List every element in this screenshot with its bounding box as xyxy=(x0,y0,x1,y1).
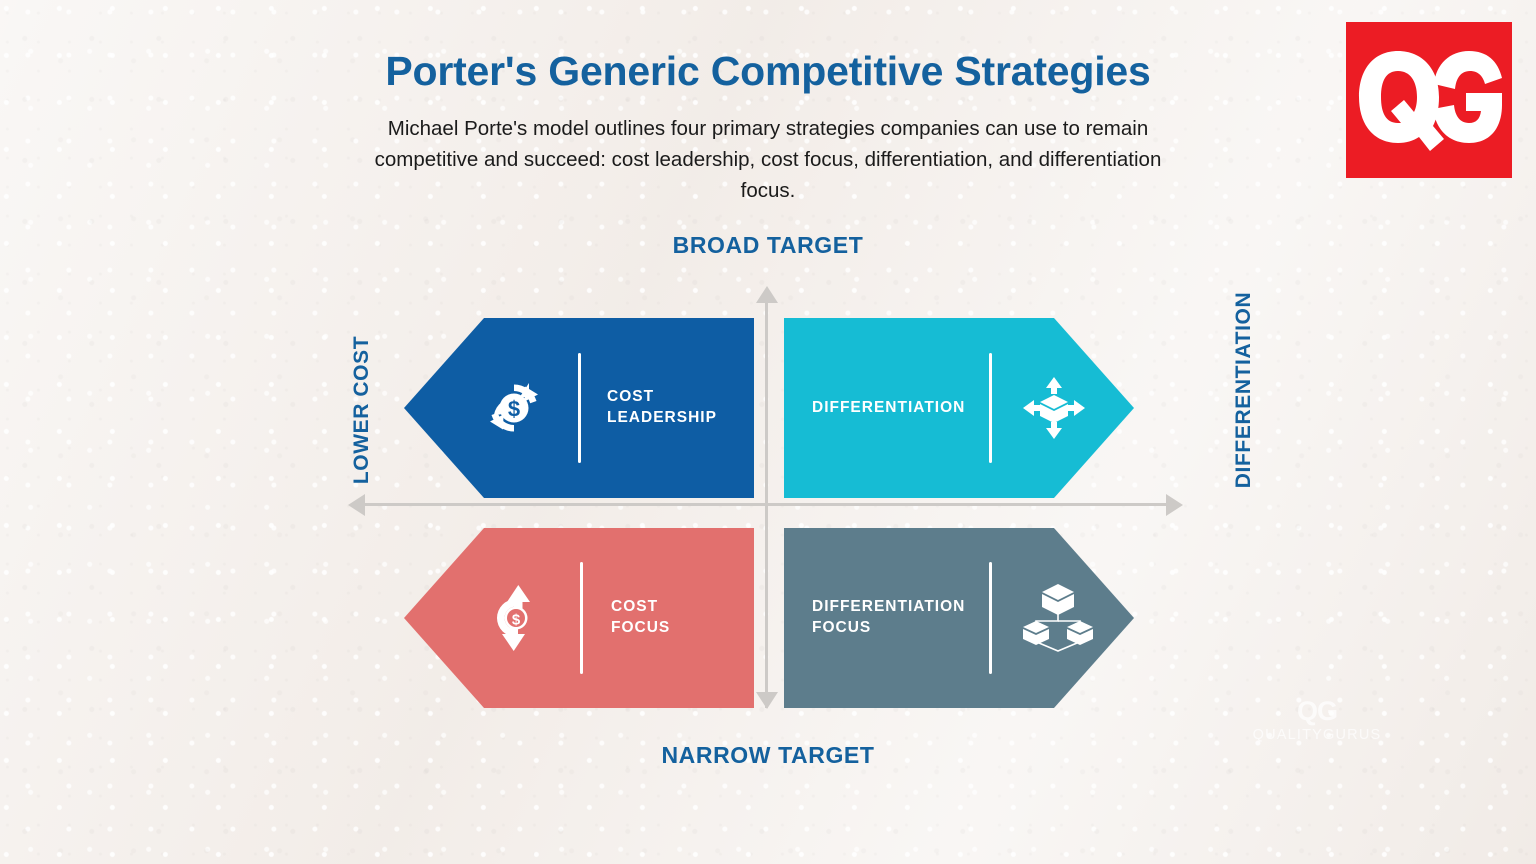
dollar-cycle-icon: $ xyxy=(480,583,552,653)
divider xyxy=(580,562,583,674)
axis-label-narrow-target: NARROW TARGET xyxy=(0,742,1536,769)
quadrant-label-cost-leadership: COST LEADERSHIP xyxy=(607,387,717,429)
quadrant-cost-leadership[interactable]: $ COST LEADERSHIP xyxy=(404,318,754,498)
quadrant-label-differentiation-focus: DIFFERENTIATION FOCUS xyxy=(812,597,965,639)
divider xyxy=(578,353,581,463)
divider xyxy=(989,562,992,674)
quadrant-label-line-1: DIFFERENTIATION xyxy=(812,597,965,618)
arrow-up-icon xyxy=(756,286,778,303)
quadrant-cost-focus[interactable]: $ COST FOCUS xyxy=(404,528,754,708)
vertical-axis-line xyxy=(765,296,768,708)
cube-network-icon xyxy=(1016,581,1100,655)
divider xyxy=(989,353,992,463)
watermark-text: QUALITYGURUS xyxy=(1232,727,1402,743)
quadrant-label-line-1: COST xyxy=(611,597,670,618)
horizontal-axis-line xyxy=(362,503,1174,506)
arrow-right-icon xyxy=(1166,494,1183,516)
quadrant-differentiation-focus[interactable]: DIFFERENTIATION FOCUS xyxy=(784,528,1134,708)
arrow-down-icon xyxy=(756,692,778,709)
svg-text:$: $ xyxy=(508,397,520,422)
svg-text:$: $ xyxy=(512,612,521,629)
axis-label-differentiation: DIFFERENTIATION xyxy=(1232,270,1256,510)
quadrant-label-line-2: LEADERSHIP xyxy=(607,408,717,429)
axis-label-broad-target: BROAD TARGET xyxy=(0,232,1536,259)
quadrant-label-line-2: FOCUS xyxy=(611,618,670,639)
quadrant-label-differentiation: DIFFERENTIATION xyxy=(812,398,965,419)
axis-label-lower-cost: LOWER COST xyxy=(350,310,374,510)
quadrant-label-line-1: DIFFERENTIATION xyxy=(812,398,965,419)
watermark-logo: QG xyxy=(1232,698,1402,725)
quadrant-label-cost-focus: COST FOCUS xyxy=(611,597,670,639)
quadrant-label-line-1: COST xyxy=(607,387,717,408)
cube-expand-icon xyxy=(1016,375,1092,441)
watermark: QG QUALITYGURUS xyxy=(1232,698,1402,743)
quadrant-label-line-2: FOCUS xyxy=(812,618,965,639)
dollar-refresh-icon: $ xyxy=(476,375,552,441)
quadrant-differentiation[interactable]: DIFFERENTIATION xyxy=(784,318,1134,498)
